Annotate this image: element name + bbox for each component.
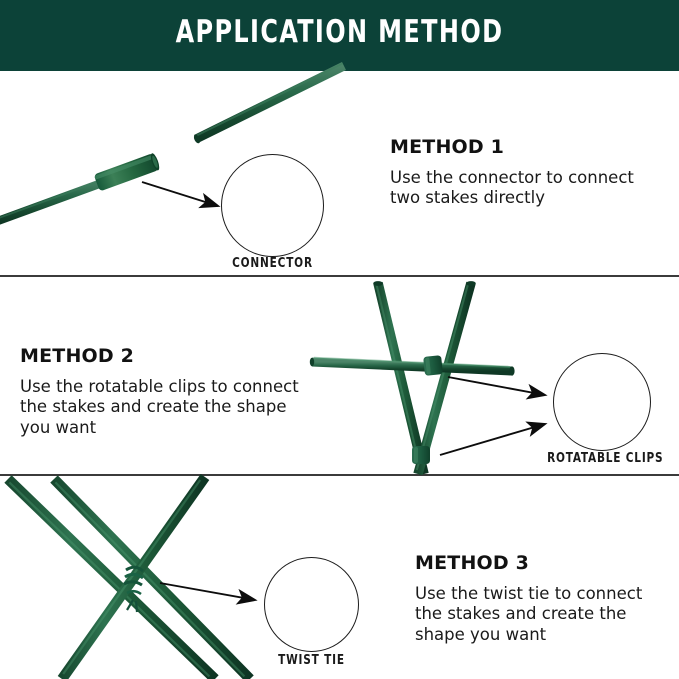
callout-label-connector: CONNECTOR — [226, 256, 319, 271]
stake-lower-left — [0, 178, 110, 222]
connector-sleeve-on-stake — [94, 152, 161, 191]
stake-v-right — [417, 281, 476, 474]
stake-cross-c — [62, 477, 205, 679]
stake-v-left — [373, 281, 424, 474]
twist-tie-knot — [124, 567, 143, 612]
method-3-heading: METHOD 3 — [415, 552, 529, 574]
section-divider-2 — [0, 474, 679, 476]
arrow-method-2-upper — [448, 377, 545, 395]
stake-horizontal-method-2 — [310, 358, 515, 376]
rotatable-clip-lower-junction — [412, 446, 430, 464]
stake-cross-a — [8, 479, 215, 679]
rotatable-clip-upper-junction — [423, 355, 443, 376]
callout-circle-rotatable-clips — [553, 353, 651, 451]
section-divider-1 — [0, 275, 679, 277]
arrow-method-1 — [142, 182, 218, 206]
method-3-body: Use the twist tie to connect the stakes … — [415, 584, 673, 645]
method-1-heading: METHOD 1 — [390, 136, 504, 158]
method-2-body: Use the rotatable clips to connect the s… — [20, 377, 305, 438]
stake-cross-b — [54, 479, 250, 679]
callout-label-rotatable-clips: ROTATABLE CLIPS — [547, 451, 657, 466]
method-1-body: Use the connector to connect two stakes … — [390, 168, 662, 209]
arrow-method-2-lower — [440, 424, 545, 455]
arrow-method-3 — [160, 583, 255, 600]
callout-label-twist-tie: TWIST TIE — [269, 653, 355, 668]
page-title: APPLICATION METHOD — [48, 14, 632, 50]
application-method-infographic: APPLICATION METHOD — [0, 0, 679, 679]
callout-circle-connector — [221, 154, 324, 257]
stake-upper-right — [193, 63, 344, 144]
method-2-heading: METHOD 2 — [20, 345, 134, 367]
callout-circle-twist-tie — [264, 557, 359, 652]
